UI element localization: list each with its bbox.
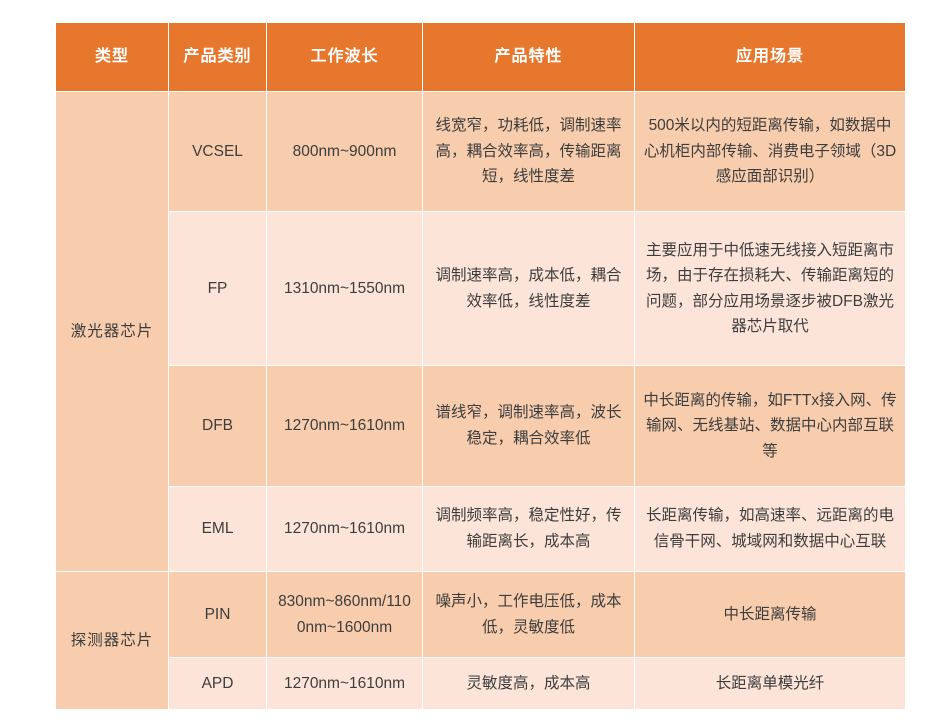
- scenario-cell: 长距离传输，如高速率、远距离的电信骨干网、城域网和数据中心互联: [635, 486, 906, 572]
- scenario-cell: 长距离单模光纤: [635, 658, 906, 710]
- scenario-cell: 中长距离的传输，如FTTx接入网、传输网、无线基站、数据中心内部互联等: [635, 366, 906, 486]
- scenario-cell: 主要应用于中低速无线接入短距离市场，由于存在损耗大、传输距离短的问题，部分应用场…: [635, 212, 906, 366]
- wavelength-cell: 1310nm~1550nm: [267, 212, 423, 366]
- category-cell: VCSEL: [169, 92, 267, 212]
- scenario-cell: 500米以内的短距离传输，如数据中心机柜内部传输、消费电子领域（3D感应面部识别…: [635, 92, 906, 212]
- table-row: EML 1270nm~1610nm 调制频率高，稳定性好，传输距离长，成本高 长…: [56, 486, 906, 572]
- features-cell: 噪声小，工作电压低，成本低，灵敏度低: [423, 572, 635, 658]
- table-row: APD 1270nm~1610nm 灵敏度高，成本高 长距离单模光纤: [56, 658, 906, 710]
- table-row: 激光器芯片 VCSEL 800nm~900nm 线宽窄，功耗低，调制速率高，耦合…: [56, 92, 906, 212]
- wavelength-cell: 1270nm~1610nm: [267, 658, 423, 710]
- table-row: FP 1310nm~1550nm 调制速率高，成本低，耦合效率低，线性度差 主要…: [56, 212, 906, 366]
- column-header-type: 类型: [56, 23, 169, 92]
- spec-table-container: 类型 产品类别 工作波长 产品特性 应用场景 激光器芯片 VCSEL 800nm…: [55, 22, 905, 710]
- table-row: DFB 1270nm~1610nm 谱线窄，调制速率高，波长稳定，耦合效率低 中…: [56, 366, 906, 486]
- column-header-scenario: 应用场景: [635, 23, 906, 92]
- category-cell: DFB: [169, 366, 267, 486]
- features-cell: 线宽窄，功耗低，调制速率高，耦合效率高，传输距离短，线性度差: [423, 92, 635, 212]
- features-cell: 灵敏度高，成本高: [423, 658, 635, 710]
- wavelength-cell: 1270nm~1610nm: [267, 486, 423, 572]
- column-header-wavelength: 工作波长: [267, 23, 423, 92]
- category-cell: APD: [169, 658, 267, 710]
- column-header-features: 产品特性: [423, 23, 635, 92]
- type-cell-detector-chip: 探测器芯片: [56, 572, 169, 710]
- category-cell: EML: [169, 486, 267, 572]
- table-header: 类型 产品类别 工作波长 产品特性 应用场景: [56, 23, 906, 92]
- features-cell: 调制速率高，成本低，耦合效率低，线性度差: [423, 212, 635, 366]
- optical-chip-spec-table: 类型 产品类别 工作波长 产品特性 应用场景 激光器芯片 VCSEL 800nm…: [55, 22, 906, 710]
- table-body: 激光器芯片 VCSEL 800nm~900nm 线宽窄，功耗低，调制速率高，耦合…: [56, 92, 906, 710]
- category-cell: FP: [169, 212, 267, 366]
- scenario-cell: 中长距离传输: [635, 572, 906, 658]
- table-row: 探测器芯片 PIN 830nm~860nm/1100nm~1600nm 噪声小，…: [56, 572, 906, 658]
- type-cell-laser-chip: 激光器芯片: [56, 92, 169, 572]
- category-cell: PIN: [169, 572, 267, 658]
- wavelength-cell: 830nm~860nm/1100nm~1600nm: [267, 572, 423, 658]
- features-cell: 谱线窄，调制速率高，波长稳定，耦合效率低: [423, 366, 635, 486]
- header-row: 类型 产品类别 工作波长 产品特性 应用场景: [56, 23, 906, 92]
- features-cell: 调制频率高，稳定性好，传输距离长，成本高: [423, 486, 635, 572]
- wavelength-cell: 1270nm~1610nm: [267, 366, 423, 486]
- wavelength-cell: 800nm~900nm: [267, 92, 423, 212]
- column-header-category: 产品类别: [169, 23, 267, 92]
